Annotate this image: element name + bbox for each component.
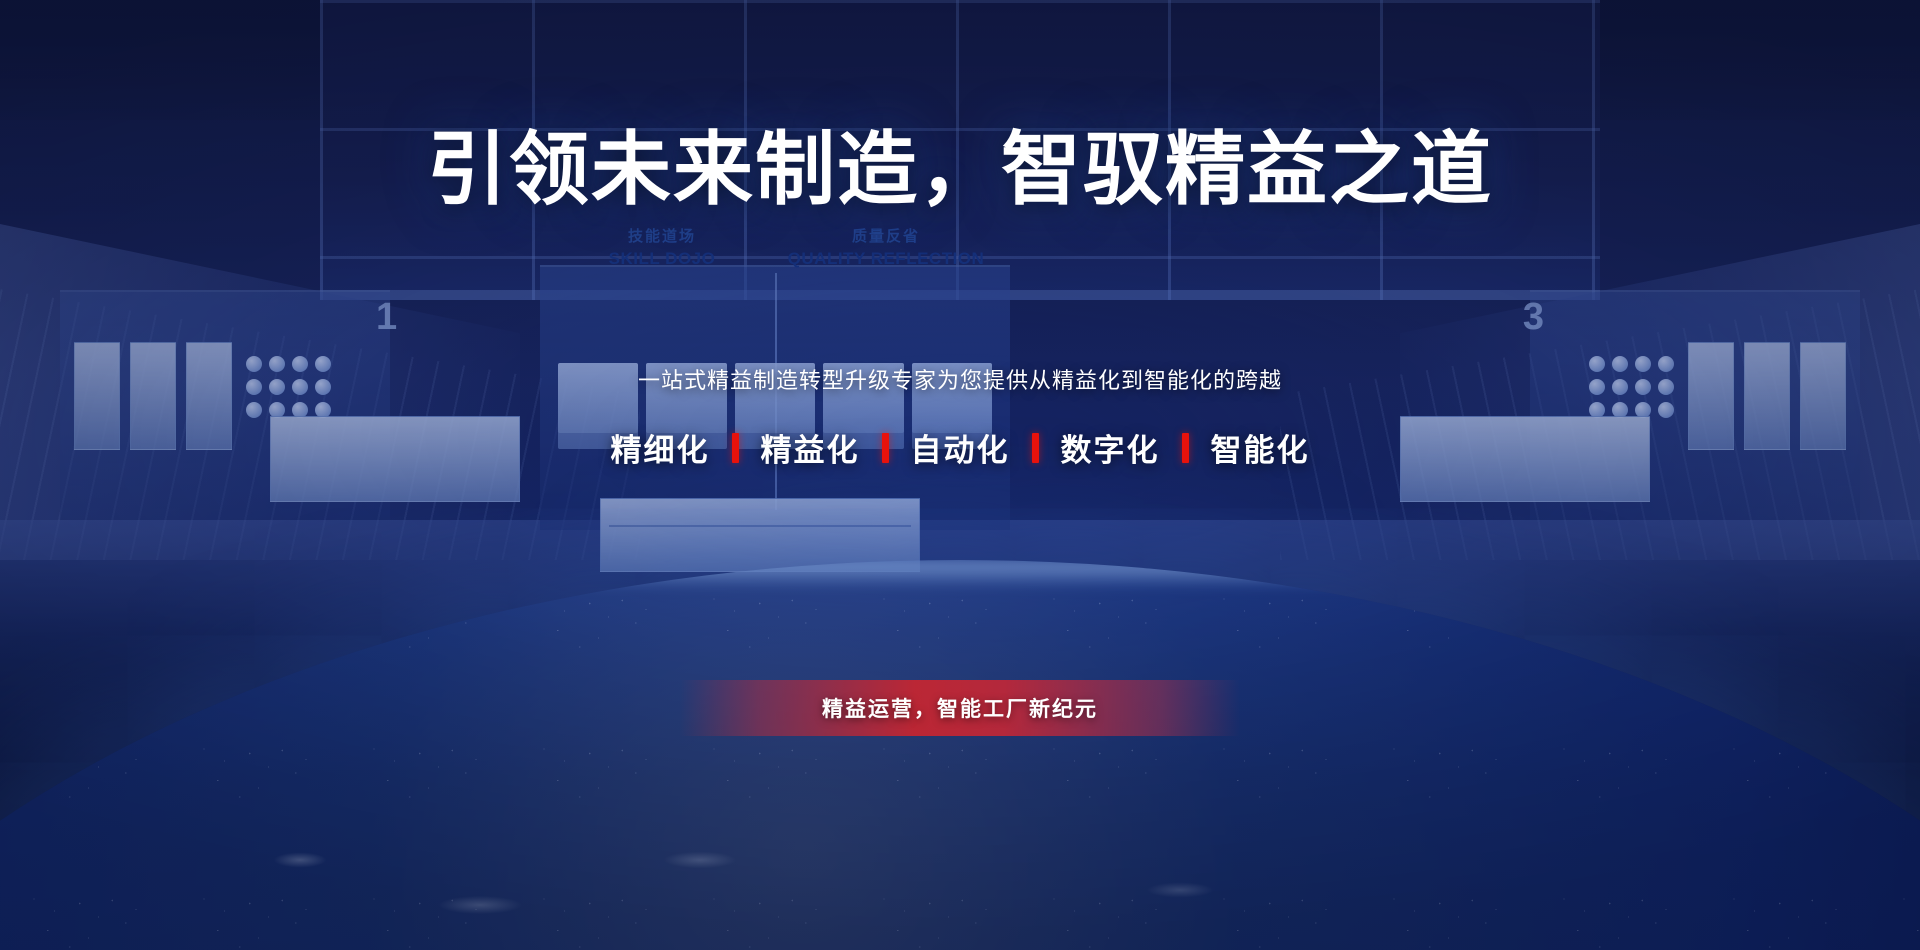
keyword-separator-icon: [882, 433, 889, 463]
banner-subtitle: 一站式精益制造转型升级专家为您提供从精益化到智能化的跨越: [0, 363, 1920, 395]
tagline-text: 精益运营，智能工厂新纪元: [822, 693, 1098, 723]
banner-content: 引领未来制造，智驭精益之道 一站式精益制造转型升级专家为您提供从精益化到智能化的…: [0, 0, 1920, 950]
keyword-item: 数字化: [1061, 425, 1160, 470]
keyword-separator-icon: [1032, 433, 1039, 463]
keyword-item: 精益化: [761, 425, 860, 470]
hero-banner: 技能道场 SKILL DOJO 质量反省 QUALITY REFLECTION …: [0, 0, 1920, 950]
keyword-item: 精细化: [611, 425, 710, 470]
keyword-item: 智能化: [1211, 425, 1310, 470]
keyword-list: 精细化 精益化 自动化 数字化 智能化: [0, 425, 1920, 470]
tagline-badge: 精益运营，智能工厂新纪元: [680, 680, 1240, 736]
keyword-separator-icon: [732, 433, 739, 463]
keyword-item: 自动化: [911, 425, 1010, 470]
page-title: 引领未来制造，智驭精益之道: [0, 130, 1920, 210]
keyword-separator-icon: [1182, 433, 1189, 463]
